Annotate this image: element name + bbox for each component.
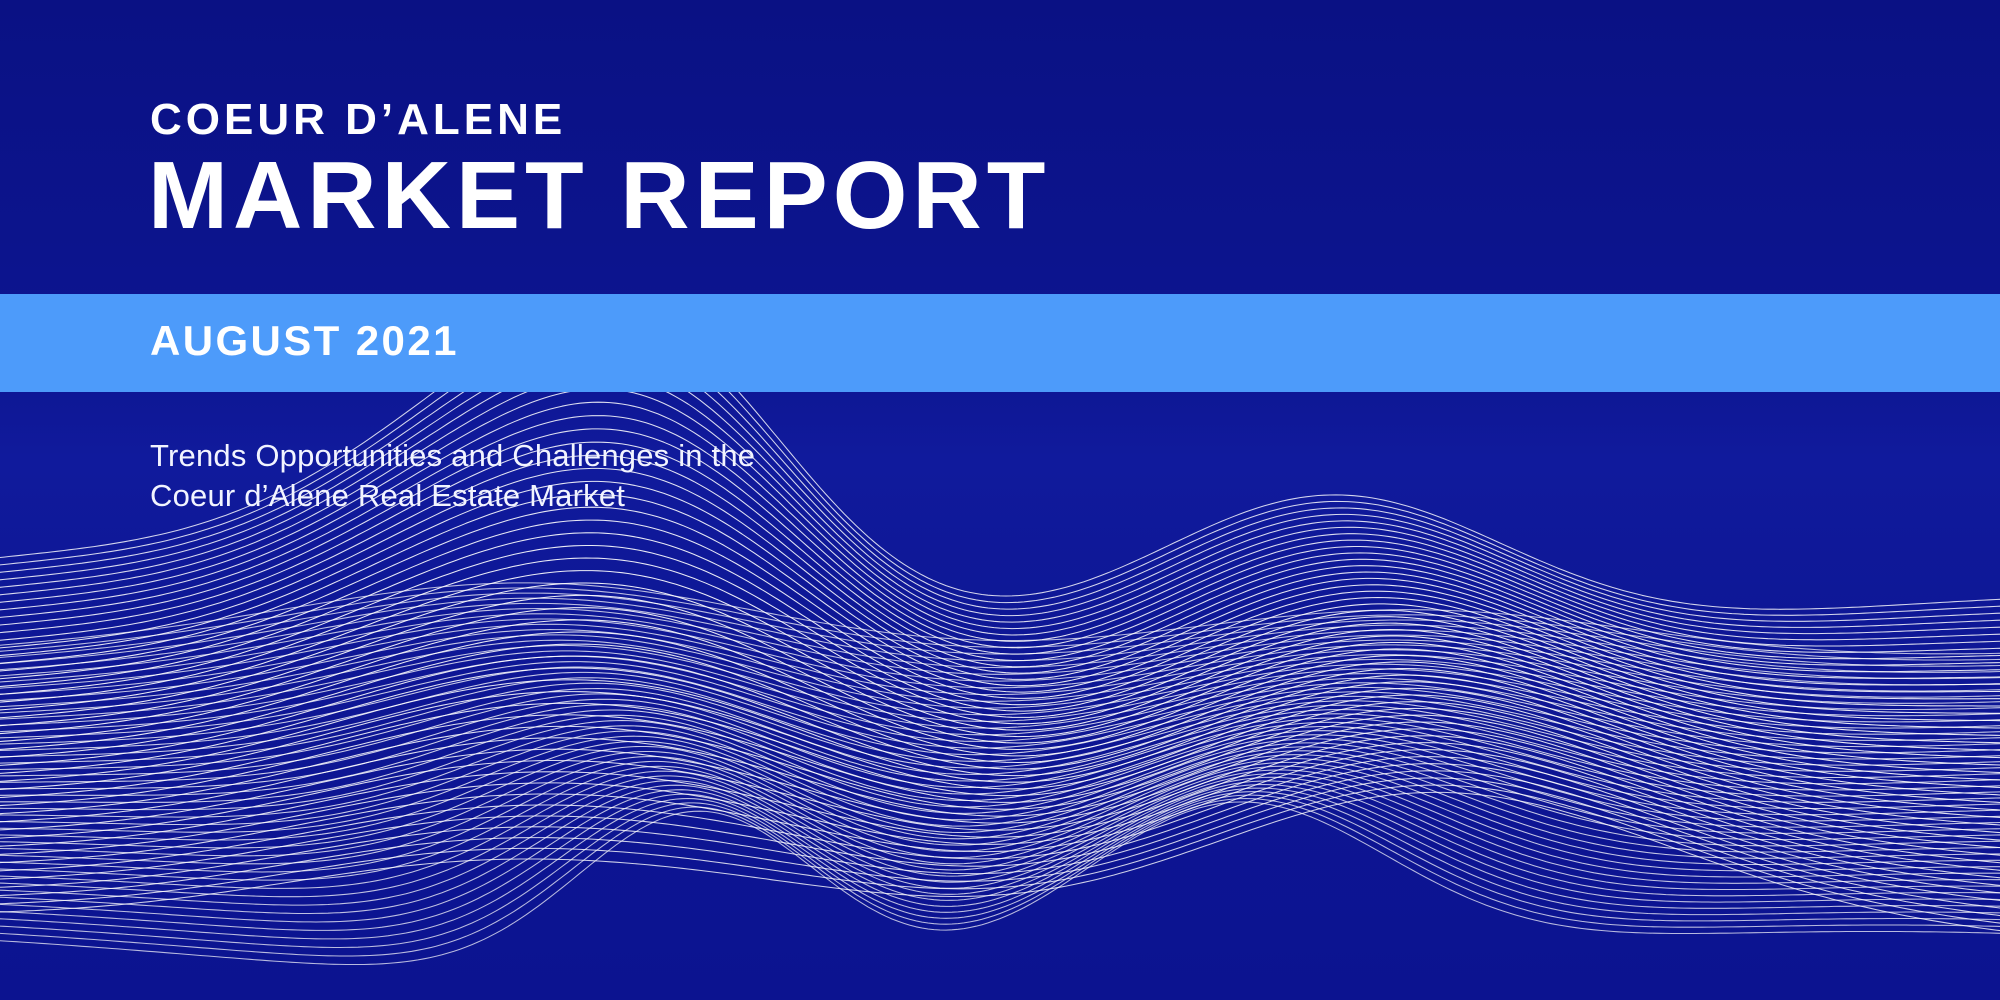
wave-line [0, 678, 2000, 765]
wave-line [0, 558, 2000, 736]
header-block: COEUR D’ALENE MARKET REPORT [0, 0, 2000, 294]
wave-line [0, 598, 2000, 672]
subtitle-line-2: Coeur d’Alene Real Estate Market [150, 476, 755, 516]
wave-line [0, 680, 2000, 811]
wave-line [0, 595, 2000, 758]
wave-line [0, 731, 2000, 827]
wave-line [0, 588, 2000, 660]
wave-line [0, 656, 2000, 740]
wave-line [0, 644, 2000, 788]
wave-line [0, 792, 2000, 933]
wave-line [0, 672, 2000, 759]
wave-line [0, 771, 2000, 910]
wave-line [0, 736, 2000, 872]
wave-line [0, 694, 2000, 784]
wave-line [0, 705, 2000, 797]
wave-line [0, 766, 2000, 880]
wave-line [0, 609, 2000, 685]
page-title: MARKET REPORT [148, 148, 1050, 244]
wave-line [0, 389, 2000, 646]
wave-line [0, 494, 2000, 698]
wave-line [0, 656, 2000, 796]
wave-line [0, 770, 2000, 889]
wave-line [0, 761, 2000, 872]
wave-line [0, 736, 2000, 833]
wave-line [0, 792, 2000, 939]
wave-line [0, 785, 2000, 925]
wave-line [0, 708, 2000, 841]
wave-line [0, 726, 2000, 821]
wave-line [0, 752, 2000, 856]
wave-line [0, 571, 2000, 744]
wave-line [0, 795, 2000, 947]
wave-line [0, 785, 2000, 923]
wave-line [0, 722, 2000, 857]
date-band-label: AUGUST 2021 [150, 320, 459, 362]
wave-line [0, 702, 2000, 834]
wave-line [0, 533, 2000, 721]
wave-line [0, 546, 2000, 729]
wave-line [0, 614, 2000, 691]
date-band: AUGUST 2021 [0, 294, 2000, 392]
wave-line [0, 662, 2000, 747]
wave-line [0, 757, 2000, 895]
wave-line [0, 788, 2000, 930]
wave-line [0, 764, 2000, 903]
wave-line [0, 635, 2000, 716]
wave-line [0, 781, 2000, 914]
subtitle: Trends Opportunities and Challenges in t… [150, 436, 755, 516]
eyebrow-location: COEUR D’ALENE [150, 98, 566, 142]
wave-line [0, 620, 2000, 773]
report-cover: COEUR D’ALENE MARKET REPORT AUGUST 2021 … [0, 0, 2000, 1000]
wave-line [0, 688, 2000, 819]
wave-line [0, 741, 2000, 840]
wave-line [0, 630, 2000, 710]
subtitle-line-1: Trends Opportunities and Challenges in t… [150, 436, 755, 476]
wave-line [0, 583, 2000, 654]
wave-line [0, 721, 2000, 815]
wave-line [0, 689, 2000, 778]
wave-line [0, 778, 2000, 918]
wave-line [0, 583, 2000, 751]
wave-line [0, 710, 2000, 802]
wave-line [0, 624, 2000, 703]
wave-line [0, 651, 2000, 734]
wave-line [0, 774, 2000, 897]
wave-line [0, 750, 2000, 888]
wave-line [0, 640, 2000, 722]
wave-line [0, 668, 2000, 804]
wave-line [0, 520, 2000, 713]
wave-line [0, 632, 2000, 781]
wave-line [0, 695, 2000, 826]
wave-line [0, 667, 2000, 753]
wave-line [0, 729, 2000, 865]
wave-line [0, 799, 2000, 957]
wave-line [0, 699, 2000, 790]
wave-line [0, 777, 2000, 905]
wave-line [0, 715, 2000, 849]
wave-line [0, 593, 2000, 666]
wave-line [0, 802, 2000, 965]
wave-line [0, 608, 2000, 766]
wave-line [0, 747, 2000, 848]
wave-line [0, 619, 2000, 697]
wave-line [0, 757, 2000, 864]
wave-line [0, 646, 2000, 729]
wave-line [0, 743, 2000, 880]
wave-line [0, 715, 2000, 808]
wave-line [0, 603, 2000, 678]
wave-line [0, 683, 2000, 771]
wave-line [0, 507, 2000, 706]
